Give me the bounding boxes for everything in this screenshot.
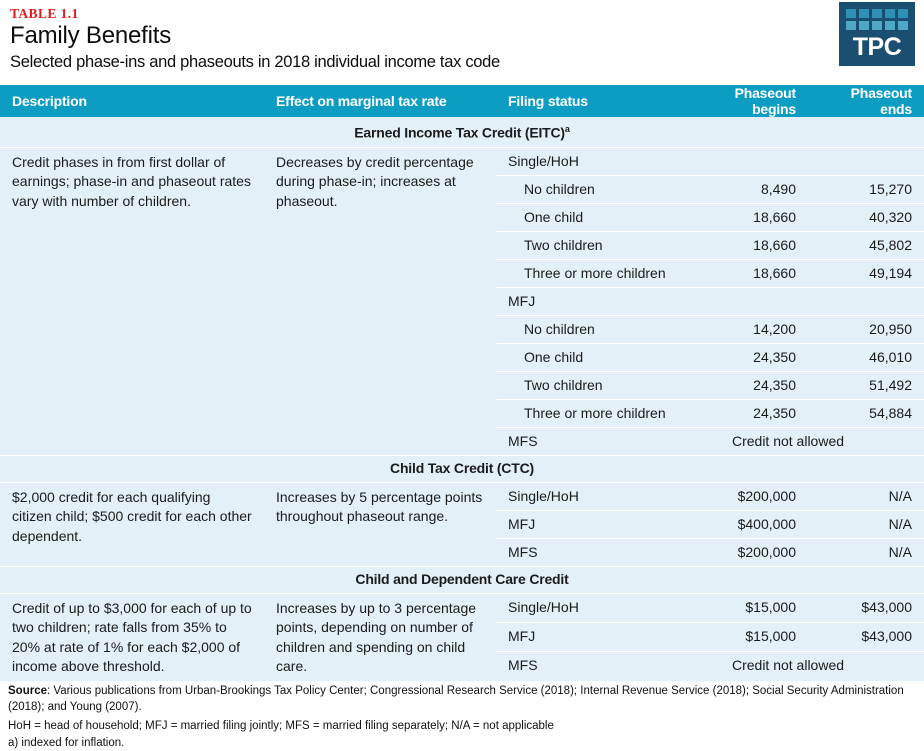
table-row: Credit of up to $3,000 for each of up to… [0,593,924,622]
logo-wordmark: TPC [846,34,908,61]
section-title-text: Earned Income Tax Credit (EITC) [354,125,565,141]
cell-filing-status: No children [496,315,682,343]
cell-filing-status: MFJ [496,287,682,315]
column-header-description: Description [0,85,264,117]
section-title-row: Child Tax Credit (CTC) [0,455,924,482]
column-header-effect: Effect on marginal tax rate [264,85,496,117]
cell-filing-status: MFS [496,652,682,681]
logo-tile [898,21,908,30]
cell-phaseout-ends: 40,320 [808,203,924,231]
cell-phaseout-begins: $200,000 [682,482,808,510]
table-body: Earned Income Tax Credit (EITC)a Credit … [0,117,924,681]
cell-filing-status: MFS [496,427,682,455]
cell-phaseout-ends: N/A [808,482,924,510]
cell-phaseout-ends: $43,000 [808,593,924,622]
section-title-superscript: a [565,124,570,134]
column-header-filing-status: Filing status [496,85,682,117]
cell-phaseout-begins: $15,000 [682,622,808,651]
section-title-row: Child and Dependent Care Credit [0,566,924,593]
cell-description: Credit phases in from first dollar of ea… [0,147,264,455]
cell-phaseout-ends [808,287,924,315]
logo-tile [859,9,869,18]
cell-filing-status: Single/HoH [496,147,682,175]
cell-phaseout-ends: 51,492 [808,371,924,399]
section-title-eitc: Earned Income Tax Credit (EITC)a [0,117,924,147]
column-header-phaseout-begins: Phaseout begins [682,85,808,117]
cell-description: Credit of up to $3,000 for each of up to… [0,593,264,681]
cell-phaseout-ends: 46,010 [808,343,924,371]
abbreviations-note: HoH = head of household; MFJ = married f… [8,718,916,734]
table-number-label: TABLE 1.1 [10,6,924,21]
cell-filing-status: MFJ [496,622,682,651]
column-header-phaseout-ends: Phaseout ends [808,85,924,117]
cell-phaseout-begins: 24,350 [682,399,808,427]
cell-description: $2,000 credit for each qualifying citize… [0,482,264,566]
page-title: Family Benefits [10,22,924,49]
cell-phaseout-begins [682,147,808,175]
cell-filing-status: Three or more children [496,259,682,287]
cell-effect: Increases by 5 percentage points through… [264,482,496,566]
cell-phaseout-begins: 18,660 [682,231,808,259]
logo-tile [885,9,895,18]
cell-filing-status: Two children [496,371,682,399]
source-line: Source: Various publications from Urban-… [8,683,916,715]
page-header: TABLE 1.1 Family Benefits Selected phase… [0,0,924,85]
cell-phaseout-ends: 49,194 [808,259,924,287]
table-row: $2,000 credit for each qualifying citize… [0,482,924,510]
cell-phaseout-begins: 8,490 [682,175,808,203]
table-header-row: Description Effect on marginal tax rate … [0,85,924,117]
cell-filing-status: One child [496,203,682,231]
logo-tile [898,9,908,18]
cell-credit-not-allowed: Credit not allowed [682,427,924,455]
cell-filing-status: MFJ [496,510,682,538]
cell-effect: Decreases by credit percentage during ph… [264,147,496,455]
cell-phaseout-ends: 54,884 [808,399,924,427]
cell-phaseout-ends: 45,802 [808,231,924,259]
footnote-a: a) indexed for inflation. [8,735,916,751]
family-benefits-table: Description Effect on marginal tax rate … [0,85,924,681]
cell-phaseout-ends: $43,000 [808,622,924,651]
table-footer: Source: Various publications from Urban-… [0,681,924,751]
source-text: : Various publications from Urban-Brooki… [8,685,904,713]
cell-phaseout-begins: 24,350 [682,343,808,371]
page-subtitle: Selected phase-ins and phaseouts in 2018… [10,51,924,73]
cell-phaseout-begins: $400,000 [682,510,808,538]
cell-phaseout-ends: 15,270 [808,175,924,203]
cell-phaseout-begins: 24,350 [682,371,808,399]
table-page: TABLE 1.1 Family Benefits Selected phase… [0,0,924,682]
cell-phaseout-ends [808,147,924,175]
logo-tile [872,21,882,30]
cell-phaseout-begins: 18,660 [682,203,808,231]
cell-phaseout-begins [682,287,808,315]
cell-effect: Increases by up to 3 percentage points, … [264,593,496,681]
cell-filing-status: Three or more children [496,399,682,427]
logo-tile [859,21,869,30]
section-title-cdcc: Child and Dependent Care Credit [0,566,924,593]
cell-credit-not-allowed: Credit not allowed [682,652,924,681]
logo-tile [846,9,856,18]
cell-phaseout-ends: N/A [808,510,924,538]
cell-filing-status: No children [496,175,682,203]
logo-tile [872,9,882,18]
logo-tile [846,21,856,30]
cell-phaseout-begins: $200,000 [682,538,808,566]
cell-filing-status: One child [496,343,682,371]
cell-filing-status: Single/HoH [496,593,682,622]
cell-phaseout-ends: 20,950 [808,315,924,343]
cell-phaseout-begins: 14,200 [682,315,808,343]
cell-filing-status: Single/HoH [496,482,682,510]
section-title-ctc: Child Tax Credit (CTC) [0,455,924,482]
table-row: Credit phases in from first dollar of ea… [0,147,924,175]
source-label: Source [8,685,47,697]
cell-phaseout-ends: N/A [808,538,924,566]
logo-tile [885,21,895,30]
table-header: Description Effect on marginal tax rate … [0,85,924,117]
logo-tile-grid [846,9,908,30]
cell-filing-status: Two children [496,231,682,259]
cell-phaseout-begins: 18,660 [682,259,808,287]
tpc-logo: TPC [839,2,915,66]
section-title-row: Earned Income Tax Credit (EITC)a [0,117,924,147]
cell-filing-status: MFS [496,538,682,566]
cell-phaseout-begins: $15,000 [682,593,808,622]
